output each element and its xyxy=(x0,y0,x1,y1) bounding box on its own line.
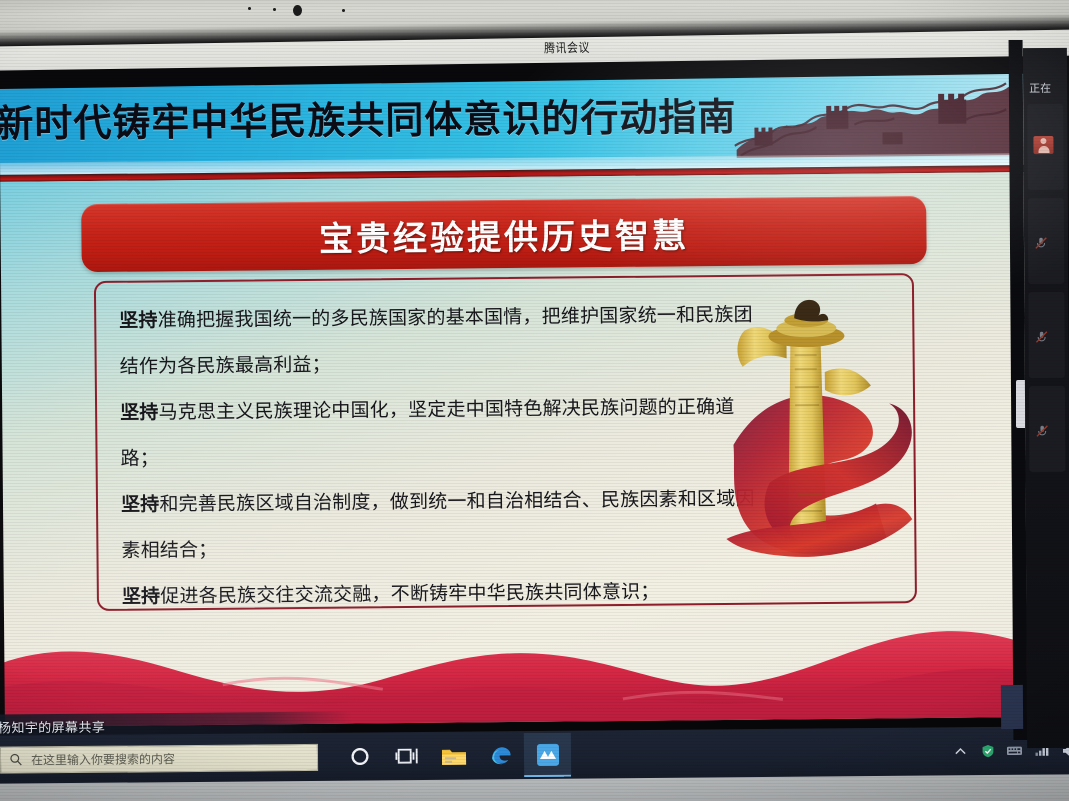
rail-popup-sliver[interactable] xyxy=(1016,380,1025,428)
participant-tile[interactable] xyxy=(1028,292,1065,378)
show-hidden-icons-button[interactable] xyxy=(953,744,968,759)
bullet-1-text: 准确把握我国统一的多民族国家的基本国情，把维护国家统一和民族团结作为各民族最高利… xyxy=(120,304,753,378)
bullet-3-lead: 坚持 xyxy=(121,493,160,515)
webcam-lens xyxy=(293,5,302,16)
red-silk-wave-footer xyxy=(0,603,1038,727)
circle-icon xyxy=(348,745,370,767)
edge-browser-button[interactable] xyxy=(477,733,524,777)
bullet-1-lead: 坚持 xyxy=(119,309,158,331)
search-icon xyxy=(9,752,23,766)
slide-title: 新时代铸牢中华民族共同体意识的行动指南 xyxy=(0,86,737,148)
avatar xyxy=(1033,136,1053,154)
chevron-up-icon xyxy=(954,745,967,758)
section-banner-text: 宝贵经验提供历史智慧 xyxy=(319,208,689,261)
security-button[interactable] xyxy=(980,743,995,758)
bullet-4-text: 促进各民族交往交流交融，不断铸牢中华民族共同体意识； xyxy=(160,581,659,608)
task-view-button[interactable] xyxy=(383,734,430,778)
bullet-4-lead: 坚持 xyxy=(122,585,161,607)
tencent-meeting-button[interactable] xyxy=(524,733,571,777)
search-placeholder: 在这里输入你要搜索的内容 xyxy=(31,750,175,768)
mic-muted-icon xyxy=(1035,424,1049,438)
cortana-button[interactable] xyxy=(336,734,383,778)
photographed-monitor: 新时代铸牢中华民族共同体意识的行动指南 xyxy=(0,0,1069,801)
bullet-2-lead: 坚持 xyxy=(120,401,159,423)
shared-presentation-slide: 新时代铸牢中华民族共同体意识的行动指南 xyxy=(0,67,1038,727)
mic-muted-icon xyxy=(1035,330,1049,344)
participants-rail[interactable]: 正在 xyxy=(1023,48,1069,748)
file-explorer-button[interactable] xyxy=(430,734,477,778)
bullet-1: 坚持准确把握我国统一的多民族国家的基本国情，把维护国家统一和民族团结作为各民族最… xyxy=(119,292,760,390)
app-window-title: 腾讯会议 xyxy=(544,38,590,57)
screen-share-label: 杨知宇的屏幕共享 xyxy=(0,716,105,736)
indicator-dot-mid xyxy=(273,8,276,11)
rail-status-text: 正在 xyxy=(1023,48,1067,96)
folder-icon xyxy=(440,745,466,766)
search-input[interactable]: 在这里输入你要搜索的内容 xyxy=(0,743,318,773)
rail-bottom-tile[interactable] xyxy=(1001,685,1023,729)
bullet-2-text: 马克思主义民族理论中国化，坚定走中国特色解决民族问题的正确道路； xyxy=(120,396,734,470)
taskbar-buttons xyxy=(336,733,571,779)
windows-taskbar[interactable]: 在这里输入你要搜索的内容 xyxy=(0,726,1069,784)
bullet-3: 坚持和完善民族区域自治制度，做到统一和自治相结合、民族因素和区域因素相结合； xyxy=(121,476,762,574)
participant-tile[interactable] xyxy=(1027,104,1064,190)
input-method-button[interactable] xyxy=(1007,743,1022,758)
shield-icon xyxy=(980,744,994,758)
task-view-icon xyxy=(394,746,418,766)
ime-icon xyxy=(1007,745,1022,757)
mic-muted-icon xyxy=(1034,236,1048,250)
slide-bullet-list: 坚持准确把握我国统一的多民族国家的基本国情，把维护国家统一和民族团结作为各民族最… xyxy=(119,292,762,620)
indicator-dot-right xyxy=(342,9,345,12)
indicator-dot-left xyxy=(248,7,251,10)
great-wall-illustration xyxy=(734,73,1025,162)
huabiao-column-with-red-ribbon xyxy=(724,293,957,605)
edge-icon xyxy=(488,743,512,767)
section-banner: 宝贵经验提供历史智慧 xyxy=(81,196,927,272)
bullet-2: 坚持马克思主义民族理论中国化，坚定走中国特色解决民族问题的正确道路； xyxy=(120,384,761,482)
bullet-3-text: 和完善民族区域自治制度，做到统一和自治相结合、民族因素和区域因素相结合； xyxy=(121,488,754,562)
tencent-meeting-icon xyxy=(535,743,559,767)
participant-tile[interactable] xyxy=(1028,198,1065,284)
participant-tile[interactable] xyxy=(1029,386,1066,472)
